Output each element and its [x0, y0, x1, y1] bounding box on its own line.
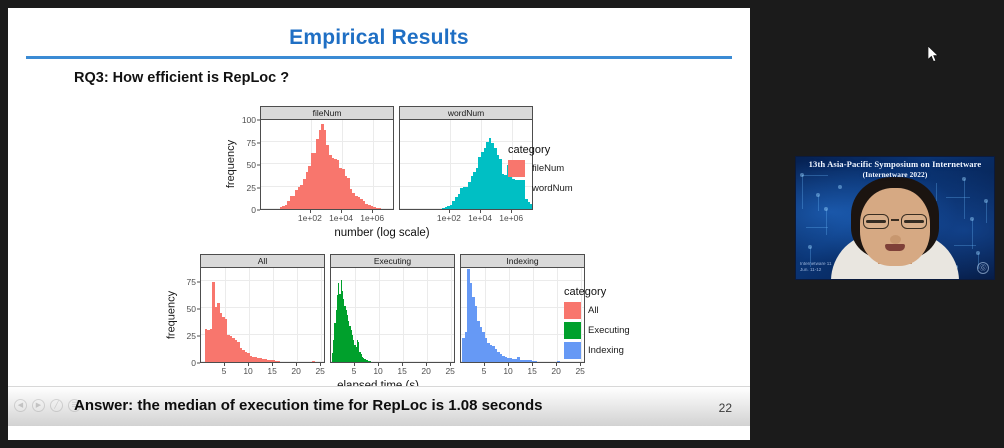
conference-banner: 13th Asia-Pacific Symposium on Internetw… — [796, 160, 994, 179]
x-axis: 510152025 — [200, 363, 325, 379]
x-tick-label: 1e+06 — [499, 213, 523, 223]
y-tick-label: 25 — [247, 183, 256, 193]
x-axis-title: number (log scale) — [226, 227, 538, 239]
circuit-trace — [826, 209, 827, 235]
legend-title: category — [508, 144, 573, 156]
x-tick-label: 20 — [291, 366, 300, 376]
facet-label: Indexing — [460, 254, 585, 268]
video-watermark: Internetware 11 Jun. 11-12 — [800, 261, 832, 273]
gridline-vertical — [297, 268, 298, 362]
pen-tool-button[interactable]: ╱ — [50, 399, 63, 412]
circuit-trace — [936, 183, 937, 201]
conference-subtitle: (Internetware 2022) — [863, 170, 928, 179]
histogram-bar — [557, 361, 560, 362]
circuit-trace — [806, 227, 828, 228]
circuit-trace — [818, 195, 819, 211]
x-tick-label: 5 — [482, 366, 487, 376]
legend-category-number: categoryfileNumwordNum — [508, 144, 573, 200]
y-tick-label: 100 — [242, 115, 256, 125]
gridline-vertical — [321, 268, 322, 362]
legend-label: Executing — [588, 325, 630, 336]
histogram-bar — [378, 208, 381, 209]
next-slide-button[interactable]: ▶ — [32, 399, 45, 412]
x-tick-label: 15 — [267, 366, 276, 376]
slide-nav-controls[interactable]: ◀▶╱☰ — [14, 399, 81, 412]
x-tick-label: 15 — [397, 366, 406, 376]
facet-row: frequency0255075100fileNumwordNum — [226, 106, 538, 210]
participant-video-tile[interactable]: 13th Asia-Pacific Symposium on Internetw… — [795, 156, 995, 280]
x-tick-label: 25 — [575, 366, 584, 376]
gridline-vertical — [450, 120, 451, 209]
person-mouth — [885, 244, 905, 251]
legend-label: All — [588, 305, 599, 316]
facet-executing: Executing — [330, 254, 455, 363]
research-question: RQ3: How efficient is RepLoc ? — [74, 70, 289, 86]
slide-page-number: 22 — [719, 401, 732, 415]
y-axis-title: frequency — [225, 119, 237, 209]
legend-label: wordNum — [532, 183, 573, 194]
gridline-vertical — [379, 268, 380, 362]
legend-item: Indexing — [564, 342, 630, 359]
eyeglasses-left-lens — [863, 214, 889, 229]
legend-swatch — [564, 302, 581, 319]
circuit-node — [970, 217, 974, 221]
x-axis: 1e+021e+041e+06 — [260, 210, 394, 226]
gridline-vertical — [509, 268, 510, 362]
x-tick-label: 10 — [243, 366, 252, 376]
circuit-trace — [946, 197, 970, 198]
answer-text: Answer: the median of execution time for… — [74, 397, 542, 414]
x-axis: 1e+021e+041e+06 — [399, 210, 533, 226]
answer-bar: ◀▶╱☰ Answer: the median of execution tim… — [8, 386, 750, 426]
facet-label: Executing — [330, 254, 455, 268]
x-tick-label: 1e+06 — [360, 213, 384, 223]
circuit-trace — [964, 179, 965, 219]
legend-label: Indexing — [588, 345, 624, 356]
facet-label: wordNum — [399, 106, 533, 120]
eyeglasses-bridge — [891, 219, 899, 221]
gridline-horizontal — [201, 280, 324, 281]
conference-logo-icon: Ⓖ — [977, 262, 989, 274]
x-tick-label: 1e+04 — [329, 213, 353, 223]
x-tick-label: 1e+02 — [298, 213, 322, 223]
gridline-vertical — [273, 268, 274, 362]
legend-category-elapsed: categoryAllExecutingIndexing — [564, 286, 630, 362]
circuit-node — [838, 185, 842, 189]
plot-panel — [330, 268, 455, 363]
x-tick-label: 5 — [352, 366, 357, 376]
x-tick-label: 25 — [445, 366, 454, 376]
legend-item: fileNum — [508, 160, 573, 177]
y-tick-label: 50 — [187, 304, 196, 314]
gridline-vertical — [427, 268, 428, 362]
histogram-bar — [535, 361, 538, 362]
circuit-trace — [986, 201, 987, 223]
presentation-slide: Empirical Results RQ3: How efficient is … — [8, 8, 750, 440]
legend-item: wordNum — [508, 180, 573, 197]
facet-row: frequency0255075AllExecutingIndexing — [166, 254, 590, 363]
legend-swatch — [508, 160, 525, 177]
gridline-horizontal — [331, 280, 454, 281]
y-tick-label: 0 — [191, 358, 196, 368]
page-title: Empirical Results — [8, 26, 750, 50]
gridline-vertical — [557, 268, 558, 362]
gridline-vertical — [403, 268, 404, 362]
circuit-node — [984, 199, 988, 203]
x-tick-label: 1e+04 — [468, 213, 492, 223]
gridline-horizontal — [461, 280, 584, 281]
x-tick-label: 25 — [315, 366, 324, 376]
chart-elapsed-time-distribution: frequency0255075AllExecutingIndexing5101… — [166, 254, 590, 392]
histogram-bar — [369, 361, 370, 362]
legend-swatch — [508, 180, 525, 197]
facet-label: All — [200, 254, 325, 268]
histogram-bar — [312, 361, 315, 362]
circuit-node — [824, 207, 828, 211]
circuit-trace — [954, 245, 976, 246]
gridline-vertical — [533, 268, 534, 362]
gridline-vertical — [249, 268, 250, 362]
screen-root: Empirical Results RQ3: How efficient is … — [0, 0, 1004, 448]
legend-swatch — [564, 322, 581, 339]
x-axis: 510152025 — [330, 363, 455, 379]
circuit-node — [976, 251, 980, 255]
facet-filenum: fileNum — [260, 106, 394, 210]
y-axis-title: frequency — [165, 267, 177, 362]
conference-title: 13th Asia-Pacific Symposium on Internetw… — [809, 159, 982, 169]
gridline-vertical — [373, 120, 374, 209]
y-tick-label: 75 — [187, 277, 196, 287]
circuit-trace — [802, 175, 803, 209]
x-tick-label: 15 — [527, 366, 536, 376]
x-axis: 510152025 — [460, 363, 585, 379]
x-tick-label: 1e+02 — [437, 213, 461, 223]
x-axis-row: 510152025510152025510152025 — [166, 363, 590, 379]
y-axis: frequency0255075 — [166, 254, 200, 363]
facet-label: fileNum — [260, 106, 394, 120]
facet-all: All — [200, 254, 325, 363]
legend-item: Executing — [564, 322, 630, 339]
x-tick-label: 10 — [503, 366, 512, 376]
y-axis: frequency0255075100 — [226, 106, 260, 210]
gridline-horizontal — [331, 307, 454, 308]
y-tick-label: 50 — [247, 160, 256, 170]
y-tick-label: 75 — [247, 138, 256, 148]
watermark-line-2: Jun. 11-12 — [800, 267, 821, 272]
circuit-node — [816, 193, 820, 197]
x-tick-label: 10 — [373, 366, 382, 376]
prev-slide-button[interactable]: ◀ — [14, 399, 27, 412]
eyeglasses-right-lens — [901, 214, 927, 229]
legend-label: fileNum — [532, 163, 564, 174]
mouse-cursor-icon — [928, 46, 940, 64]
x-tick-label: 5 — [222, 366, 227, 376]
plot-panel — [260, 120, 394, 210]
circuit-node — [808, 245, 812, 249]
y-tick-label: 0 — [251, 205, 256, 215]
watermark-line-1: Internetware 11 — [800, 261, 832, 266]
title-divider — [26, 56, 732, 59]
legend-item: All — [564, 302, 630, 319]
chart-number-distribution: frequency0255075100fileNumwordNum1e+021e… — [226, 106, 538, 239]
plot-panel — [200, 268, 325, 363]
histogram-bar — [277, 361, 280, 362]
y-tick-label: 25 — [187, 331, 196, 341]
gridline-vertical — [451, 268, 452, 362]
histogram-bar — [530, 204, 533, 209]
x-tick-label: 20 — [551, 366, 560, 376]
legend-title: category — [564, 286, 630, 298]
x-axis-row: 1e+021e+041e+061e+021e+041e+06 — [226, 210, 538, 226]
legend-swatch — [564, 342, 581, 359]
x-tick-label: 20 — [421, 366, 430, 376]
